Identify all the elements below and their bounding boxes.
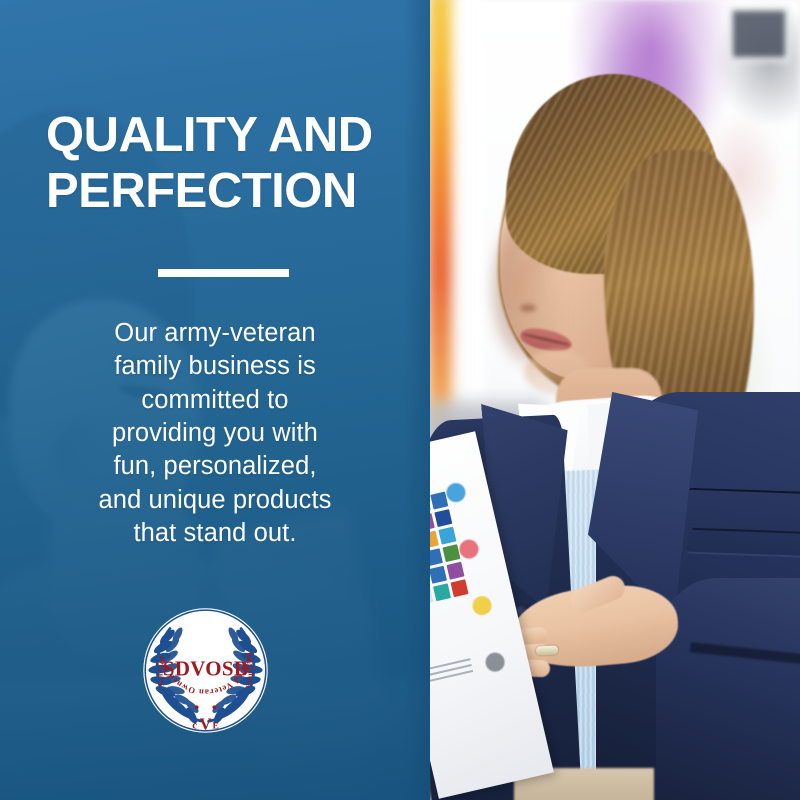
- seal-dot-right: [212, 705, 216, 709]
- title-divider: [158, 269, 289, 277]
- page-title-line-1: QUALITY AND: [46, 108, 373, 162]
- woman-figure: [428, 0, 800, 800]
- swatch-card-text-lines: [428, 658, 474, 688]
- body-line: fun, personalized,: [50, 450, 380, 483]
- svg-text:V: V: [200, 715, 212, 734]
- body-line: that stand out.: [50, 517, 380, 550]
- body-copy: Our army-veteran family business is comm…: [50, 317, 380, 551]
- body-line: Our army-veteran: [50, 317, 380, 350]
- body-line: providing you with: [50, 417, 380, 450]
- blazer-pocket-seam: [691, 528, 800, 564]
- text-panel: QUALITY AND PERFECTION Our army-veteran …: [0, 0, 430, 800]
- sdvosb-seal: Disabled Veteran Owned Small Service Bus…: [142, 607, 269, 734]
- hero-photo: [428, 0, 800, 800]
- blazer-sleeve: [656, 578, 800, 800]
- seal-center-text: SDVOSB: [163, 657, 248, 681]
- body-line: and unique products: [50, 484, 380, 517]
- nostril: [520, 304, 536, 312]
- body-line: committed to: [50, 384, 380, 417]
- page-title: QUALITY AND PERFECTION: [0, 108, 430, 220]
- svg-text:c: c: [192, 719, 197, 731]
- wedding-ring: [536, 645, 558, 655]
- svg-text:E: E: [212, 721, 218, 731]
- page-title-line-2: PERFECTION: [46, 164, 412, 220]
- body-line: family business is: [50, 350, 380, 383]
- banner-canvas: QUALITY AND PERFECTION Our army-veteran …: [0, 0, 800, 800]
- seal-dot-left: [195, 705, 199, 709]
- sdvosb-seal-graphic: Disabled Veteran Owned Small Service Bus…: [142, 607, 269, 734]
